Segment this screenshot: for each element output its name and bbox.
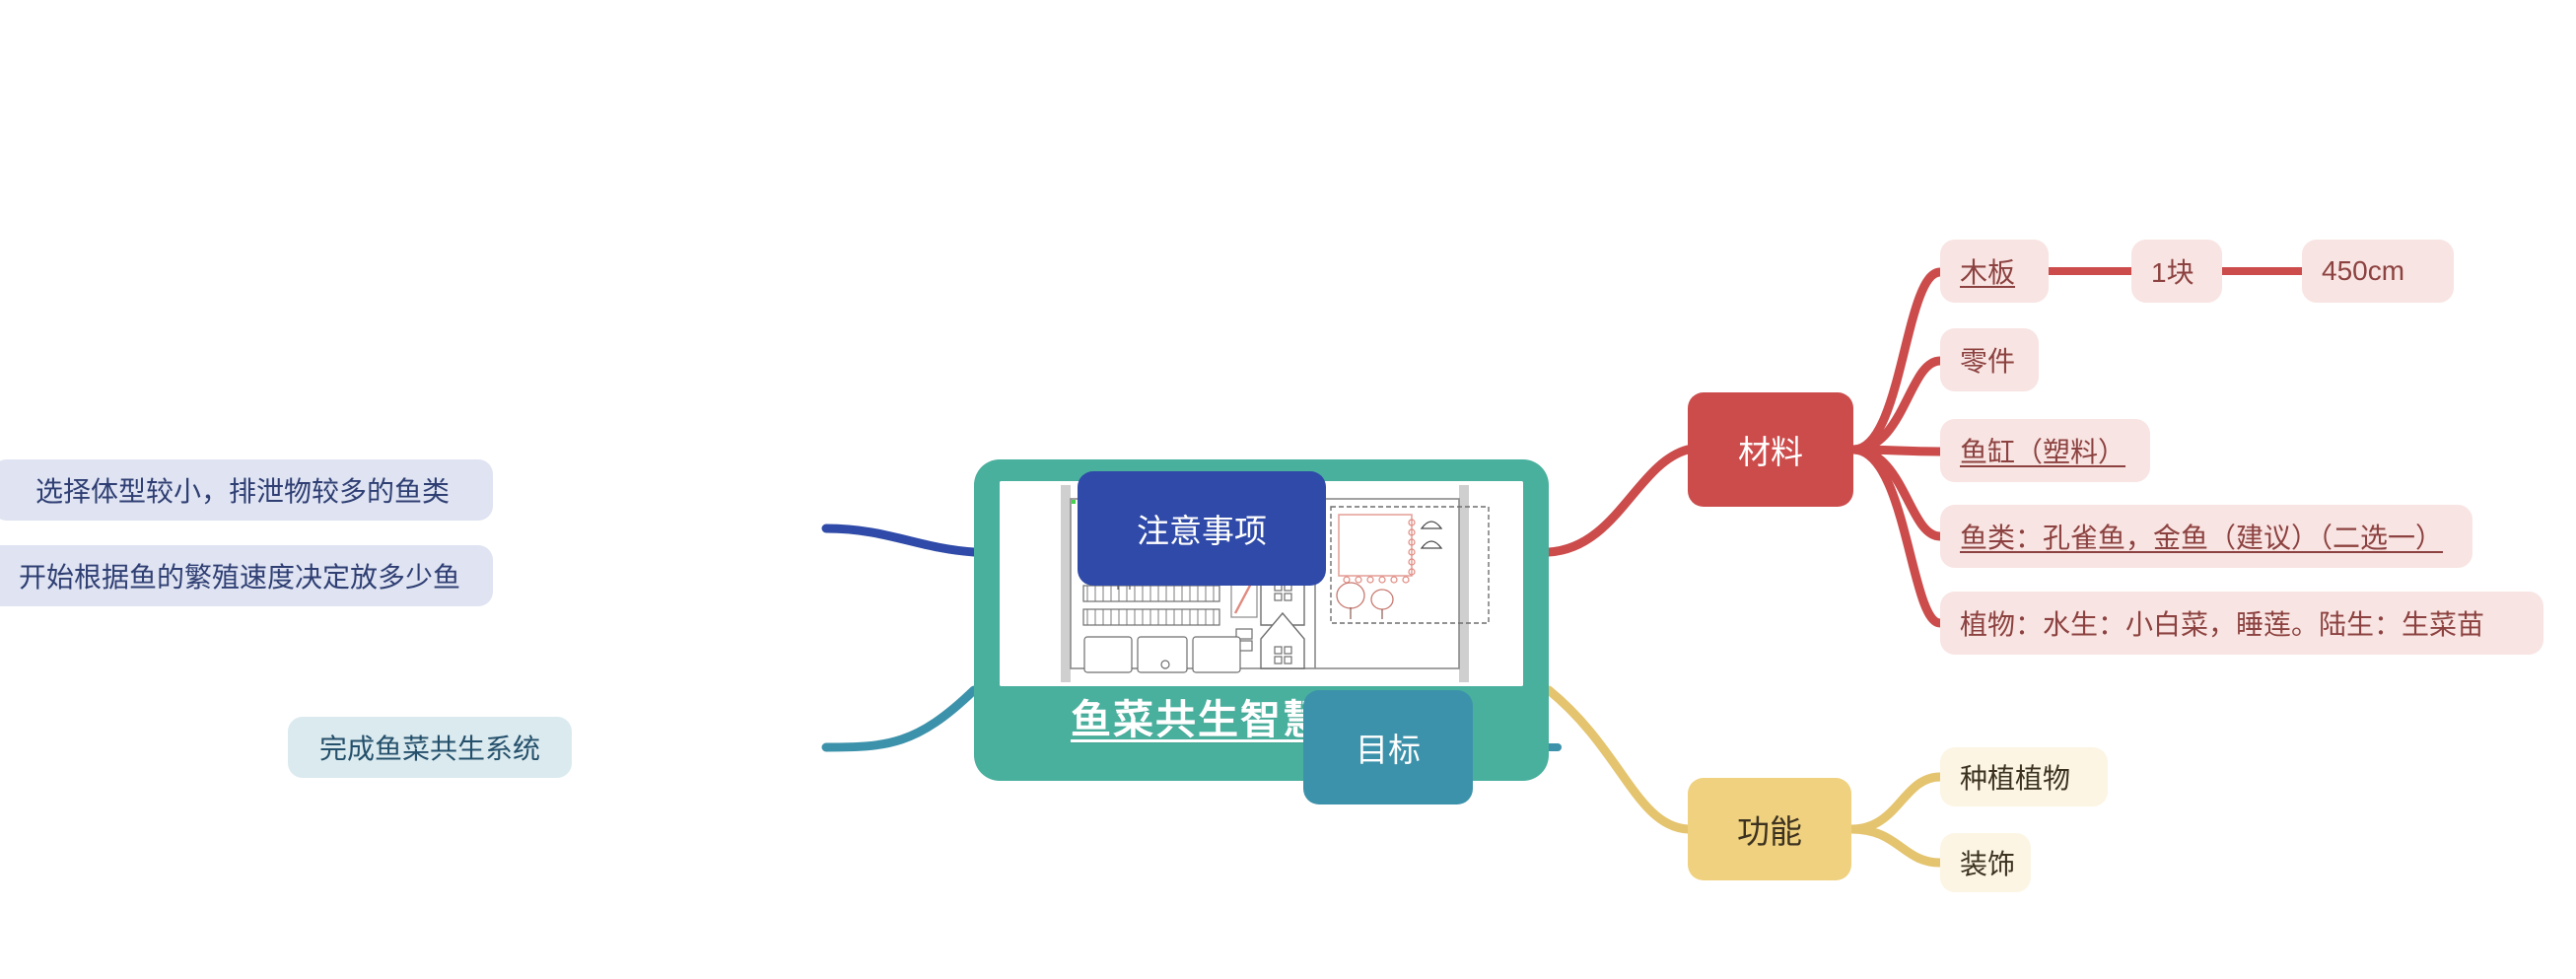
leaf-label-zhiwu: 植物：水生：小白菜，睡莲。陆生：生菜苗 xyxy=(1960,603,2484,643)
leaf-label-note-1: 选择体型较小，排泄物较多的鱼类 xyxy=(35,470,450,510)
leaf-node-goal-1[interactable]: 完成鱼菜共生系统 xyxy=(288,717,572,778)
branch-label-material: 材料 xyxy=(1738,426,1803,473)
leaf-node-zhuangshi[interactable]: 装饰 xyxy=(1940,833,2031,892)
branch-node-notes[interactable]: 注意事项 xyxy=(1078,471,1326,586)
edge-center-function xyxy=(1549,690,1688,829)
leaf-node-yulei[interactable]: 鱼类：孔雀鱼，金鱼（建议）（二选一） xyxy=(1940,505,2472,568)
leaf-node-note-1[interactable]: 选择体型较小，排泄物较多的鱼类 xyxy=(0,459,493,521)
edge-material-muban xyxy=(1853,272,1940,450)
leaf-node-1kuai[interactable]: 1块 xyxy=(2131,240,2222,303)
leaf-label-zhuangshi: 装饰 xyxy=(1960,843,2015,882)
leaf-label-yulei: 鱼类：孔雀鱼，金鱼（建议）（二选一） xyxy=(1960,517,2443,556)
edge-material-yulei xyxy=(1853,450,1940,536)
leaf-node-450cm[interactable]: 450cm xyxy=(2302,240,2454,303)
leaf-label-450cm: 450cm xyxy=(2322,255,2404,287)
branch-node-goal[interactable]: 目标 xyxy=(1303,690,1473,804)
branch-node-function[interactable]: 功能 xyxy=(1688,778,1851,880)
branch-label-notes: 注意事项 xyxy=(1137,505,1267,552)
leaf-label-lingjian: 零件 xyxy=(1960,340,2015,380)
leaf-label-zhongzhi-zhiwu: 种植植物 xyxy=(1960,757,2070,797)
edge-center-material xyxy=(1549,450,1688,552)
edge-material-yugang xyxy=(1853,450,1940,452)
leaf-node-lingjian[interactable]: 零件 xyxy=(1940,328,2039,391)
edge-center-notes xyxy=(826,528,974,552)
branch-label-function: 功能 xyxy=(1737,805,1802,853)
leaf-label-muban: 木板 xyxy=(1960,251,2015,291)
edge-material-lingjian xyxy=(1853,361,1940,450)
leaf-label-yugang: 鱼缸（塑料） xyxy=(1960,431,2125,470)
leaf-node-note-2[interactable]: 开始根据鱼的繁殖速度决定放多少鱼 xyxy=(0,545,493,606)
mindmap-canvas: 鱼菜共生智慧生态园 材料 木板 1块 450cm 零件 鱼缸（塑料） 鱼类：孔雀… xyxy=(0,0,2576,979)
leaf-node-yugang[interactable]: 鱼缸（塑料） xyxy=(1940,419,2150,482)
edge-center-goal xyxy=(826,690,974,747)
leaf-node-zhongzhi-zhiwu[interactable]: 种植植物 xyxy=(1940,747,2108,806)
branch-label-goal: 目标 xyxy=(1356,724,1421,771)
edge-function-zhuangshi xyxy=(1851,829,1940,863)
leaf-label-note-2: 开始根据鱼的繁殖速度决定放多少鱼 xyxy=(19,556,460,595)
leaf-node-muban[interactable]: 木板 xyxy=(1940,240,2049,303)
leaf-node-zhiwu[interactable]: 植物：水生：小白菜，睡莲。陆生：生菜苗 xyxy=(1940,592,2543,655)
edge-function-zhongzhi xyxy=(1851,777,1940,829)
leaf-label-goal-1: 完成鱼菜共生系统 xyxy=(319,728,540,767)
leaf-label-1kuai: 1块 xyxy=(2151,251,2194,291)
branch-node-material[interactable]: 材料 xyxy=(1688,392,1853,507)
edge-material-zhiwu xyxy=(1853,450,1940,623)
